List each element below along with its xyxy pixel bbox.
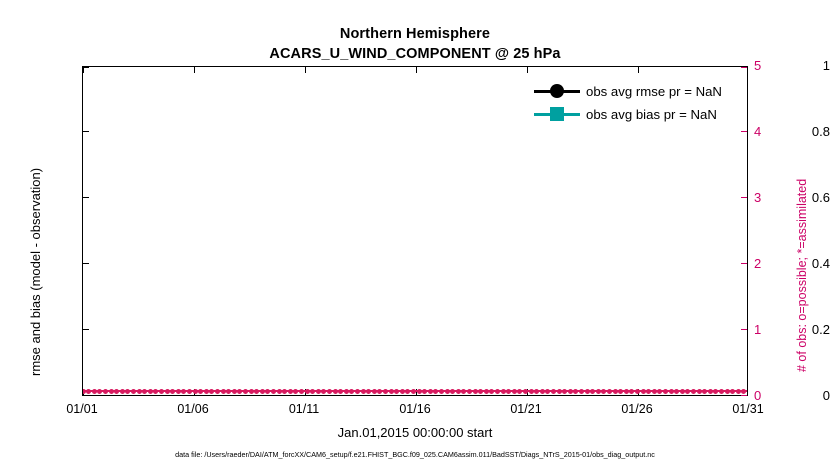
obs-count-marker xyxy=(635,389,640,394)
obs-count-marker xyxy=(288,389,293,394)
chart-title-block: Northern Hemisphere ACARS_U_WIND_COMPONE… xyxy=(0,24,830,64)
obs-count-marker xyxy=(97,389,102,394)
obs-count-marker xyxy=(321,389,326,394)
tick-top-1 xyxy=(194,67,195,73)
tick-right-4 xyxy=(741,131,747,132)
obs-count-marker xyxy=(428,389,433,394)
obs-count-marker xyxy=(277,389,282,394)
obs-count-marker xyxy=(461,389,466,394)
legend-label-rmse: obs avg rmse pr = NaN xyxy=(586,84,722,99)
obs-count-marker xyxy=(137,389,142,394)
obs-count-marker xyxy=(529,389,534,394)
obs-count-marker xyxy=(193,389,198,394)
obs-count-marker xyxy=(159,389,164,394)
y-tick-left-0: 0 xyxy=(758,388,830,403)
obs-count-marker xyxy=(691,389,696,394)
obs-count-marker xyxy=(249,389,254,394)
legend-marker-rmse xyxy=(534,84,580,98)
y-tick-right-3: 3 xyxy=(754,190,761,205)
obs-count-marker xyxy=(680,389,685,394)
obs-count-marker xyxy=(204,389,209,394)
x-tick-1: 01/06 xyxy=(161,402,225,416)
obs-count-marker xyxy=(293,389,298,394)
obs-count-marker xyxy=(243,389,248,394)
obs-count-marker xyxy=(557,389,562,394)
obs-count-marker xyxy=(361,389,366,394)
obs-count-marker xyxy=(338,389,343,394)
tick-right-0 xyxy=(741,395,747,396)
obs-count-marker xyxy=(512,389,517,394)
obs-count-marker xyxy=(624,389,629,394)
y-axis-label-right: # of obs: o=possible; *=assimilated xyxy=(795,179,809,372)
data-file-note: data file: /Users/raeder/DAI/ATM_forcXX/… xyxy=(0,450,830,459)
obs-count-marker xyxy=(456,389,461,394)
obs-count-marker xyxy=(473,389,478,394)
obs-count-marker xyxy=(181,389,186,394)
obs-count-marker xyxy=(109,389,114,394)
obs-count-marker xyxy=(641,389,646,394)
tick-right-1 xyxy=(741,329,747,330)
obs-count-marker xyxy=(226,389,231,394)
x-tick-4: 01/21 xyxy=(494,402,558,416)
tick-left-2 xyxy=(83,263,89,264)
obs-count-marker xyxy=(422,389,427,394)
obs-count-marker xyxy=(719,389,724,394)
tick-top-0 xyxy=(83,67,84,73)
obs-count-marker xyxy=(702,389,707,394)
obs-count-marker xyxy=(596,389,601,394)
y-tick-left-1: 0.2 xyxy=(758,322,830,337)
obs-count-marker xyxy=(344,389,349,394)
obs-count-marker xyxy=(613,389,618,394)
obs-count-marker xyxy=(741,389,746,394)
obs-count-marker xyxy=(736,389,741,394)
y-tick-right-1: 1 xyxy=(754,322,761,337)
obs-count-marker xyxy=(349,389,354,394)
y-tick-left-4: 0.8 xyxy=(758,124,830,139)
obs-count-series xyxy=(83,386,747,395)
circle-marker-icon xyxy=(550,84,564,98)
obs-count-marker xyxy=(730,389,735,394)
legend-label-bias: obs avg bias pr = NaN xyxy=(586,107,717,122)
y-tick-right-2: 2 xyxy=(754,256,761,271)
obs-count-marker xyxy=(232,389,237,394)
obs-count-marker xyxy=(585,389,590,394)
x-tick-5: 01/26 xyxy=(605,402,669,416)
obs-count-marker xyxy=(282,389,287,394)
obs-count-marker xyxy=(170,389,175,394)
obs-count-marker xyxy=(562,389,567,394)
obs-count-marker xyxy=(316,389,321,394)
tick-right-3 xyxy=(741,197,747,198)
obs-count-marker xyxy=(618,389,623,394)
obs-count-marker xyxy=(685,389,690,394)
y-axis-label-left: rmse and bias (model - observation) xyxy=(28,168,43,376)
chart-title: Northern Hemisphere xyxy=(0,24,830,44)
obs-count-marker xyxy=(713,389,718,394)
obs-count-marker xyxy=(299,389,304,394)
obs-count-marker xyxy=(545,389,550,394)
obs-count-marker xyxy=(383,389,388,394)
obs-count-marker xyxy=(400,389,405,394)
obs-count-marker xyxy=(366,389,371,394)
obs-count-marker xyxy=(607,389,612,394)
obs-count-marker xyxy=(523,389,528,394)
tick-top-2 xyxy=(305,67,306,73)
obs-count-marker xyxy=(506,389,511,394)
obs-count-marker xyxy=(187,389,192,394)
x-tick-3: 01/16 xyxy=(383,402,447,416)
tick-left-3 xyxy=(83,197,89,198)
obs-count-marker xyxy=(450,389,455,394)
obs-count-marker xyxy=(86,389,91,394)
obs-count-marker xyxy=(478,389,483,394)
obs-count-marker xyxy=(467,389,472,394)
obs-count-marker xyxy=(629,389,634,394)
obs-count-marker xyxy=(265,389,270,394)
y-tick-right-4: 4 xyxy=(754,124,761,139)
tick-top-4 xyxy=(527,67,528,73)
obs-count-marker xyxy=(540,389,545,394)
obs-count-marker xyxy=(389,389,394,394)
obs-count-marker xyxy=(142,389,147,394)
obs-count-marker xyxy=(377,389,382,394)
obs-count-marker xyxy=(131,389,136,394)
obs-count-marker xyxy=(590,389,595,394)
obs-count-marker xyxy=(495,389,500,394)
obs-count-marker xyxy=(405,389,410,394)
obs-count-marker xyxy=(445,389,450,394)
legend-marker-bias xyxy=(534,107,580,121)
obs-count-marker xyxy=(125,389,130,394)
obs-count-marker xyxy=(153,389,158,394)
tick-right-2 xyxy=(741,263,747,264)
obs-count-marker xyxy=(355,389,360,394)
obs-count-marker xyxy=(484,389,489,394)
legend-item-bias[interactable]: obs avg bias pr = NaN xyxy=(534,105,722,123)
obs-count-marker xyxy=(209,389,214,394)
obs-count-marker xyxy=(568,389,573,394)
obs-count-marker xyxy=(92,389,97,394)
obs-count-marker xyxy=(327,389,332,394)
tick-top-6 xyxy=(747,67,748,73)
obs-count-marker xyxy=(148,389,153,394)
x-axis-caption: Jan.01,2015 00:00:00 start xyxy=(0,425,830,440)
obs-count-marker xyxy=(652,389,657,394)
obs-count-marker xyxy=(657,389,662,394)
obs-count-marker xyxy=(725,389,730,394)
y-tick-left-5: 1 xyxy=(758,58,830,73)
obs-count-marker xyxy=(221,389,226,394)
obs-count-marker xyxy=(114,389,119,394)
obs-count-marker xyxy=(534,389,539,394)
x-tick-2: 01/11 xyxy=(272,402,336,416)
obs-count-marker xyxy=(411,389,416,394)
obs-count-marker xyxy=(176,389,181,394)
obs-count-marker xyxy=(579,389,584,394)
chart-figure: Northern Hemisphere ACARS_U_WIND_COMPONE… xyxy=(0,0,830,470)
obs-count-marker xyxy=(417,389,422,394)
obs-count-marker xyxy=(551,389,556,394)
obs-count-marker xyxy=(697,389,702,394)
y-tick-left-3: 0.6 xyxy=(758,190,830,205)
obs-count-marker xyxy=(165,389,170,394)
obs-count-marker xyxy=(394,389,399,394)
tick-left-0 xyxy=(83,395,89,396)
y-tick-left-2: 0.4 xyxy=(758,256,830,271)
chart-subtitle: ACARS_U_WIND_COMPONENT @ 25 hPa xyxy=(0,44,830,64)
obs-count-marker xyxy=(439,389,444,394)
obs-count-marker xyxy=(663,389,668,394)
obs-count-marker xyxy=(215,389,220,394)
obs-count-marker xyxy=(120,389,125,394)
y-tick-right-5: 5 xyxy=(754,58,761,73)
tick-top-3 xyxy=(416,67,417,73)
obs-count-marker xyxy=(433,389,438,394)
obs-count-marker xyxy=(305,389,310,394)
obs-count-marker xyxy=(573,389,578,394)
obs-count-marker xyxy=(601,389,606,394)
square-marker-icon xyxy=(550,107,564,121)
chart-legend: obs avg rmse pr = NaN obs avg bias pr = … xyxy=(528,78,730,127)
tick-top-5 xyxy=(638,67,639,73)
x-tick-6: 01/31 xyxy=(716,402,780,416)
obs-count-marker xyxy=(646,389,651,394)
obs-count-marker xyxy=(254,389,259,394)
obs-count-marker xyxy=(489,389,494,394)
obs-count-marker xyxy=(310,389,315,394)
obs-count-marker xyxy=(333,389,338,394)
obs-count-marker xyxy=(517,389,522,394)
tick-left-4 xyxy=(83,131,89,132)
obs-count-marker xyxy=(271,389,276,394)
y-tick-right-0: 0 xyxy=(754,388,761,403)
tick-bottom-6 xyxy=(747,389,748,395)
obs-count-marker xyxy=(237,389,242,394)
obs-count-marker xyxy=(674,389,679,394)
obs-count-marker xyxy=(669,389,674,394)
obs-count-marker xyxy=(501,389,506,394)
obs-count-marker xyxy=(198,389,203,394)
tick-left-1 xyxy=(83,329,89,330)
obs-count-marker xyxy=(103,389,108,394)
obs-count-marker xyxy=(372,389,377,394)
obs-count-marker xyxy=(708,389,713,394)
x-tick-0: 01/01 xyxy=(50,402,114,416)
legend-item-rmse[interactable]: obs avg rmse pr = NaN xyxy=(534,82,722,100)
obs-count-marker xyxy=(260,389,265,394)
